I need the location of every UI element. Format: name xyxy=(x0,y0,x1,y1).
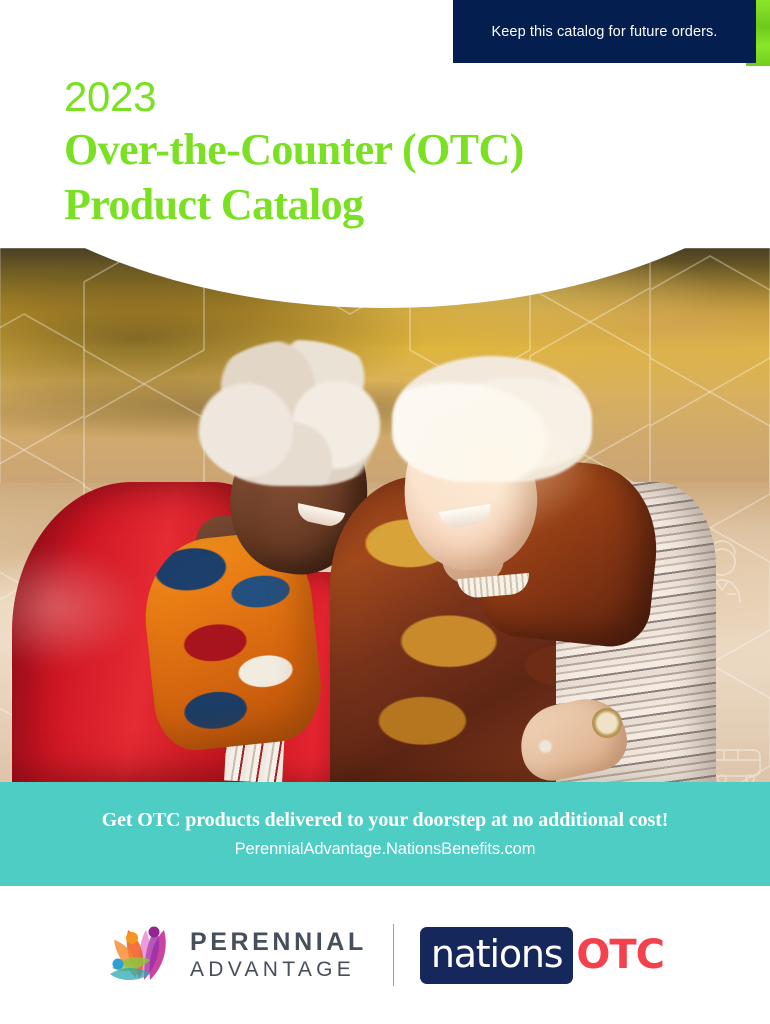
hero-light-flare xyxy=(400,387,600,537)
woman-right-ring xyxy=(540,741,551,752)
otc-text: OTC xyxy=(576,932,664,978)
hero-light-flare xyxy=(0,547,139,667)
catalog-title-line2: Product Catalog xyxy=(64,179,524,230)
keep-catalog-banner: Keep this catalog for future orders. xyxy=(453,0,756,63)
callout-headline: Get OTC products delivered to your doors… xyxy=(102,809,669,832)
perennial-advantage-logo: PERENNIAL ADVANTAGE xyxy=(106,922,367,988)
advantage-text: ADVANTAGE xyxy=(190,959,367,980)
perennial-advantage-wordmark: PERENNIAL ADVANTAGE xyxy=(190,930,367,980)
logo-divider xyxy=(393,924,394,986)
catalog-title-line1: Over-the-Counter (OTC) xyxy=(64,124,524,175)
page-title: 2023 Over-the-Counter (OTC) Product Cata… xyxy=(64,74,524,230)
perennial-text: PERENNIAL xyxy=(190,930,367,955)
callout-website-url[interactable]: PerennialAdvantage.NationsBenefits.com xyxy=(235,840,536,859)
catalog-year: 2023 xyxy=(64,74,524,120)
nations-badge: nations xyxy=(420,927,574,984)
nations-text: nations xyxy=(431,932,563,976)
woman-left-gray-hair xyxy=(196,340,396,486)
perennial-advantage-mark xyxy=(106,922,184,988)
hero-subjects xyxy=(0,248,770,782)
delivery-callout-band: Get OTC products delivered to your doors… xyxy=(0,782,770,886)
keep-catalog-text: Keep this catalog for future orders. xyxy=(491,24,717,40)
nations-otc-logo: nations OTC xyxy=(420,927,664,984)
footer-logos: PERENNIAL ADVANTAGE nations OTC xyxy=(0,886,770,1024)
catalog-cover-page: Keep this catalog for future orders. 202… xyxy=(0,0,770,1024)
hero-photo xyxy=(0,248,770,782)
